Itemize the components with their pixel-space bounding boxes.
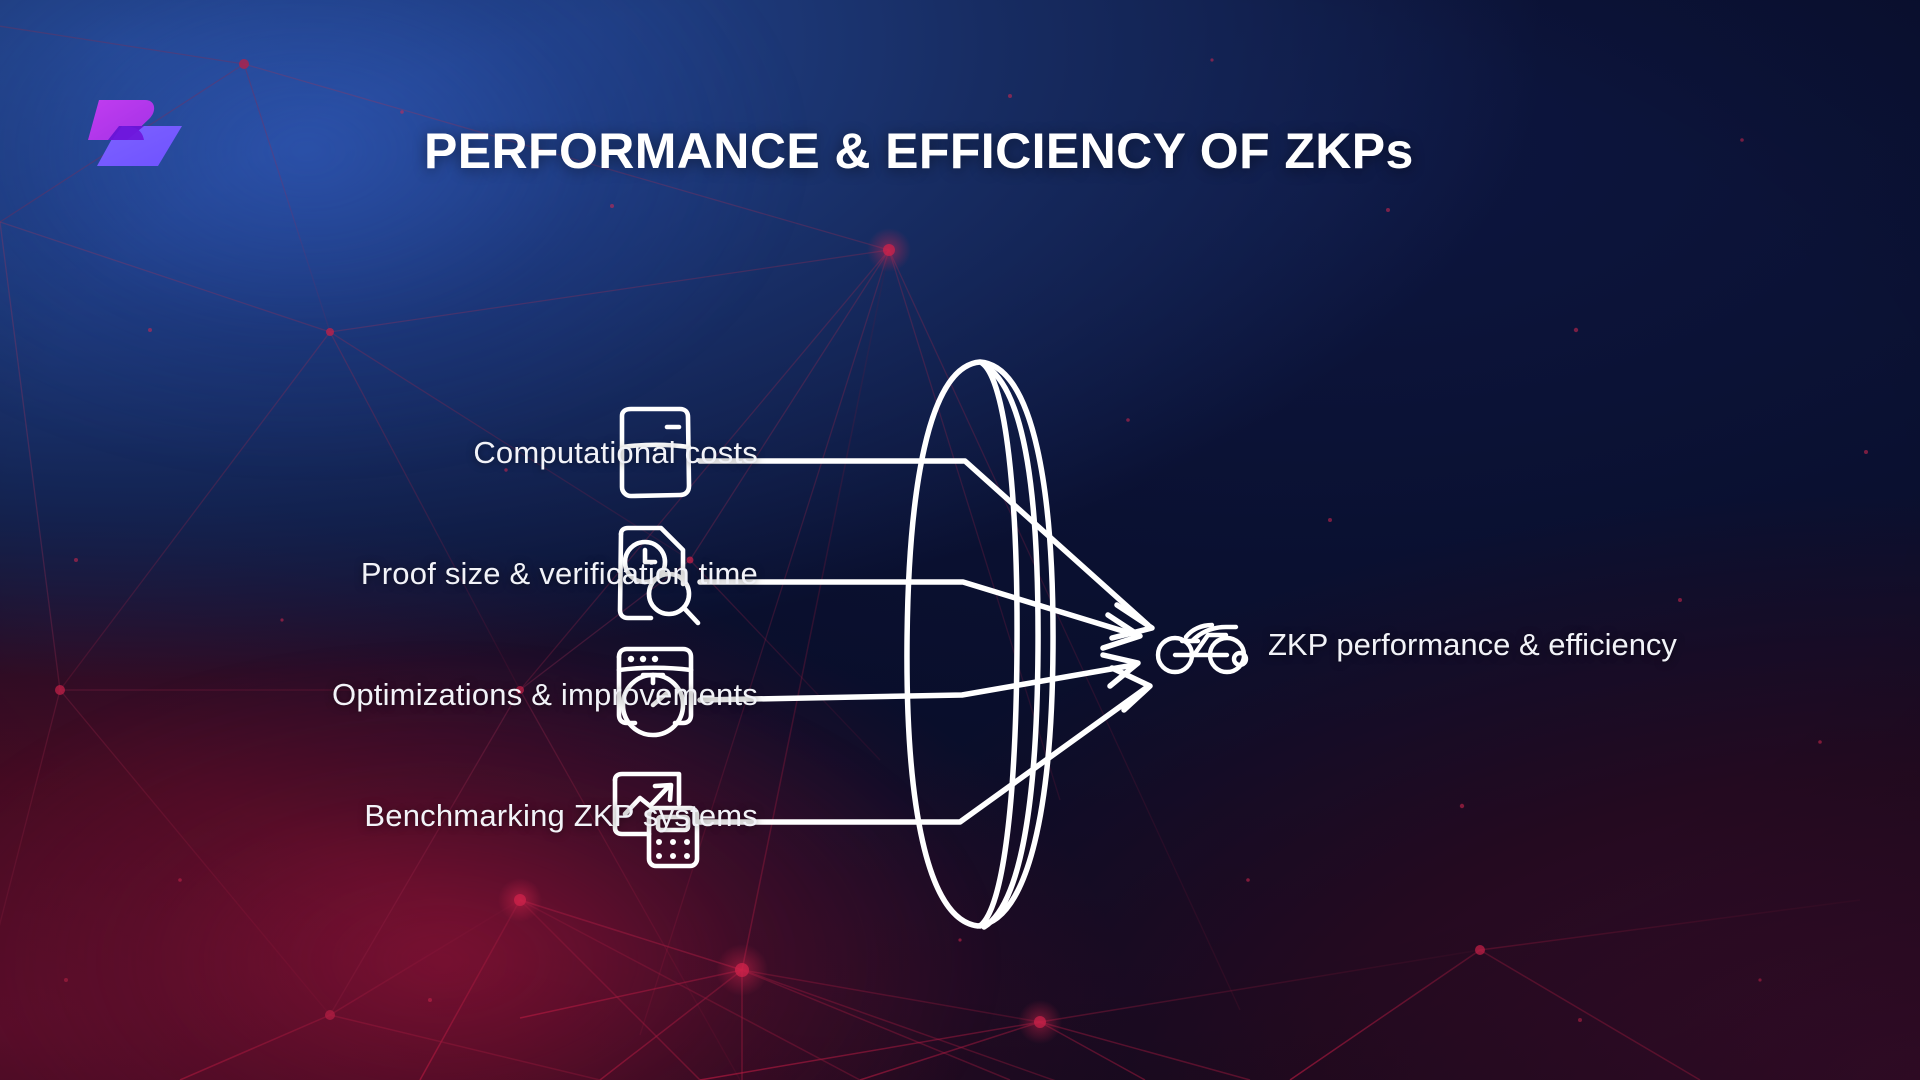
lens-outer-ellipse bbox=[907, 362, 1053, 926]
lens-inner-ellipse bbox=[980, 363, 1017, 926]
input-label-1: Computational costs bbox=[473, 435, 758, 471]
connector-line-3 bbox=[700, 665, 1134, 700]
diagram-canvas bbox=[0, 0, 1920, 1080]
slide-root: PERFORMANCE & EFFICIENCY OF ZKPs bbox=[0, 0, 1920, 1080]
arrowhead-4 bbox=[1112, 668, 1150, 710]
input-label-4: Benchmarking ZKP systems bbox=[364, 798, 758, 834]
connector-line-2 bbox=[700, 582, 1136, 635]
lens-inner-ellipse-2 bbox=[984, 366, 1038, 927]
motorcycle-icon bbox=[1158, 625, 1246, 672]
input-label-2: Proof size & verification time bbox=[361, 556, 758, 592]
connector-line-1 bbox=[700, 461, 1148, 625]
arrowheads bbox=[1103, 605, 1152, 710]
input-label-3: Optimizations & improvements bbox=[332, 677, 758, 713]
outcome-label: ZKP performance & efficiency bbox=[1268, 627, 1677, 663]
connector-line-4 bbox=[700, 688, 1146, 822]
